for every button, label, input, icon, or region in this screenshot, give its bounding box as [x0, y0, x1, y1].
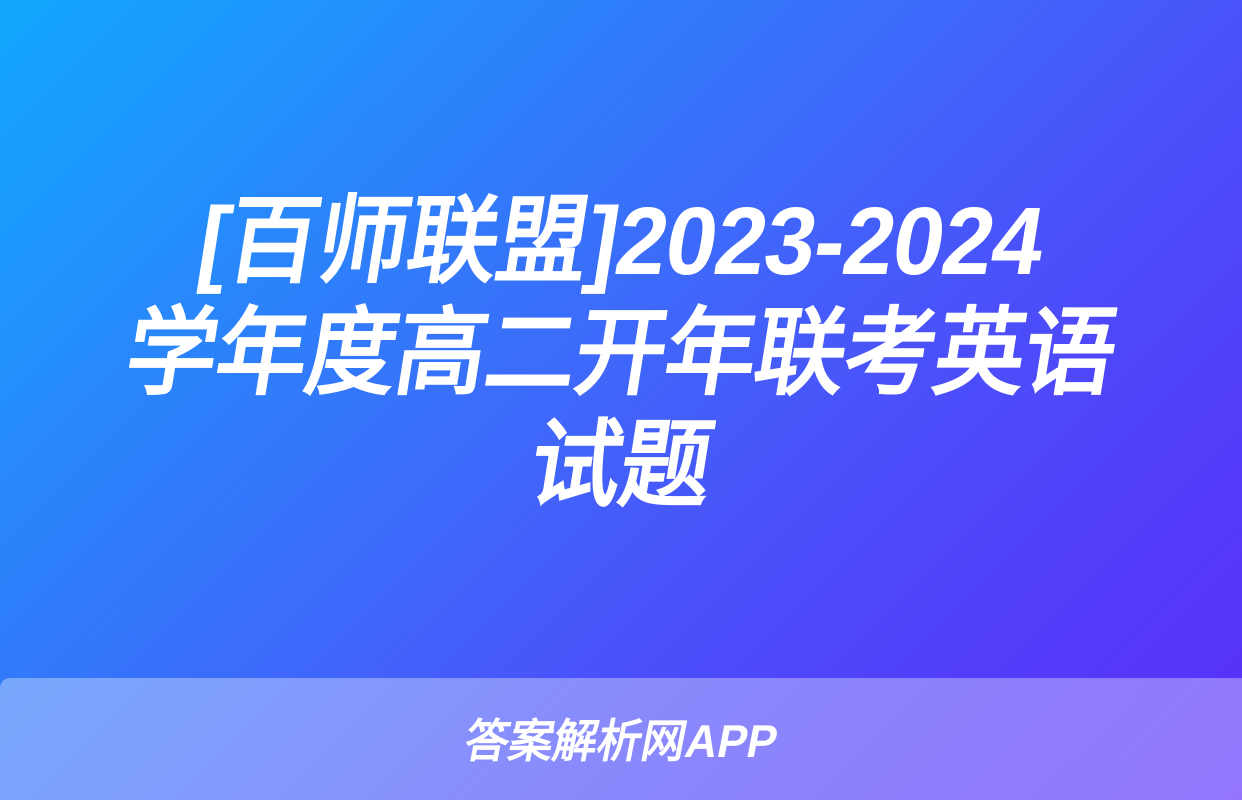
title-line-1: [百师联盟]2023-2024 — [76, 186, 1165, 298]
title-line-3: 试题 — [76, 410, 1165, 522]
title-line-2: 学年度高二开年联考英语 — [76, 298, 1165, 410]
page-title: [百师联盟]2023-2024 学年度高二开年联考英语 试题 — [0, 186, 1242, 522]
watermark-text: 答案解析网APP — [461, 718, 782, 764]
footer-watermark-band: 答案解析网APP — [0, 678, 1242, 800]
exam-cover-card: [百师联盟]2023-2024 学年度高二开年联考英语 试题 答案解析网APP — [0, 0, 1242, 800]
